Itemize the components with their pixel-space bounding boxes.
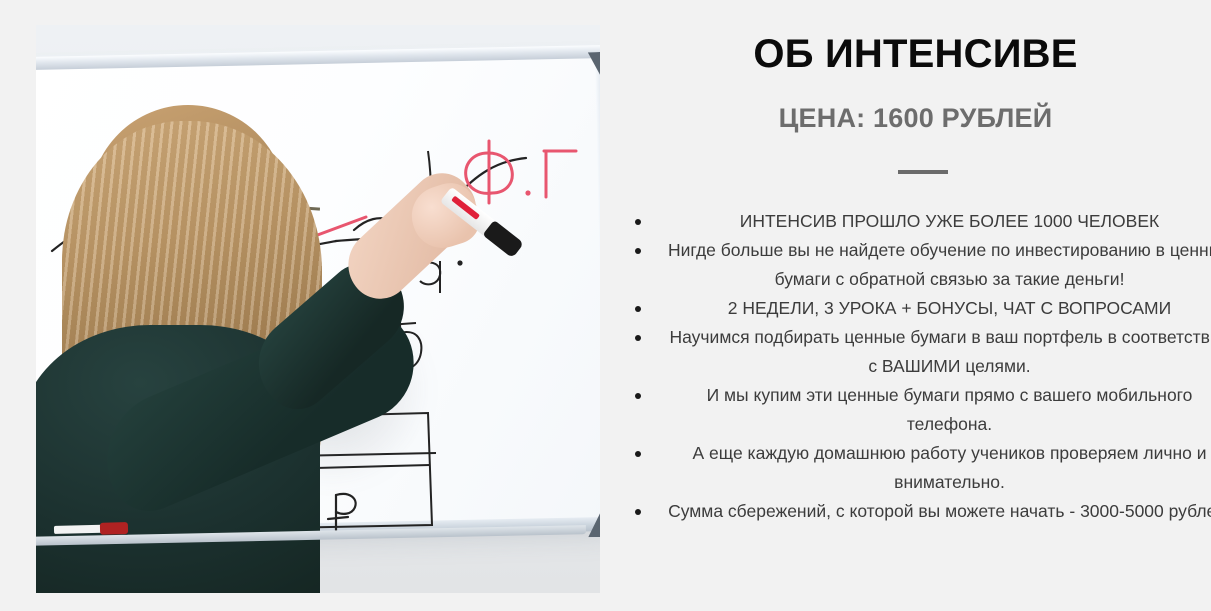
list-item: Научимся подбирать ценные бумаги в ваш п…: [658, 323, 1211, 381]
list-item: Сумма сбережений, с которой вы можете на…: [658, 497, 1211, 526]
list-item: Нигде больше вы не найдете обучение по и…: [658, 236, 1211, 294]
list-item: 2 НЕДЕЛИ, 3 УРОКА + БОНУСЫ, ЧАТ С ВОПРОС…: [658, 294, 1211, 323]
feature-list: ИНТЕНСИВ ПРОШЛО УЖЕ БОЛЕЕ 1000 ЧЕЛОВЕК Н…: [628, 207, 1211, 526]
tray-marker-icon: [54, 522, 128, 536]
instructor: [36, 25, 600, 593]
course-photo: [36, 25, 600, 593]
photo-canvas: [36, 25, 600, 593]
promo-section: ОБ ИНТЕНСИВЕ ЦЕНА: 1600 РУБЛЕЙ ИНТЕНСИВ …: [0, 0, 1211, 611]
list-item: И мы купим эти ценные бумаги прямо с ваш…: [658, 381, 1211, 439]
course-info: ОБ ИНТЕНСИВЕ ЦЕНА: 1600 РУБЛЕЙ ИНТЕНСИВ …: [620, 0, 1211, 611]
page-title: ОБ ИНТЕНСИВЕ: [620, 32, 1211, 76]
price-subtitle: ЦЕНА: 1600 РУБЛЕЙ: [620, 104, 1211, 134]
list-item: ИНТЕНСИВ ПРОШЛО УЖЕ БОЛЕЕ 1000 ЧЕЛОВЕК: [658, 207, 1211, 236]
divider: [898, 170, 948, 174]
list-item: А еще каждую домашнюю работу учеников пр…: [658, 439, 1211, 497]
